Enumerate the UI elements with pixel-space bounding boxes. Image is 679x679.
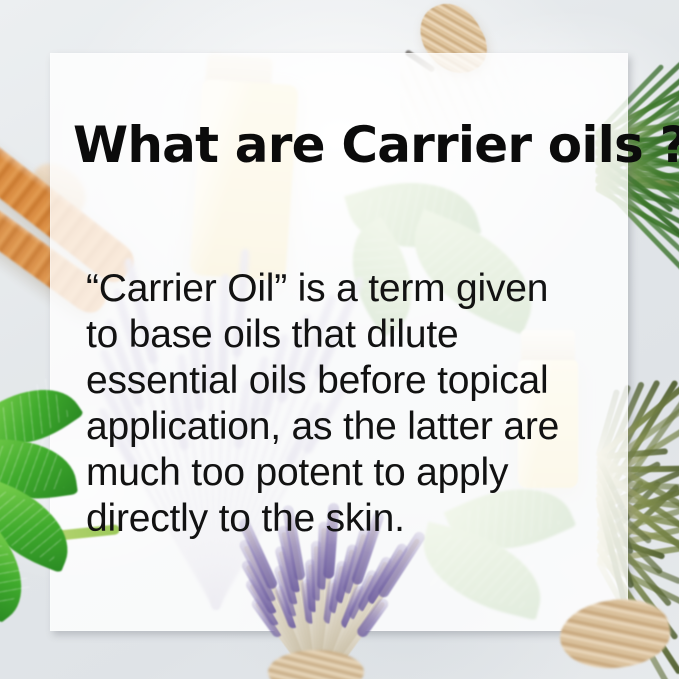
body-line: to base oils that dilute bbox=[86, 312, 606, 358]
body-line: directly to the skin. bbox=[86, 496, 606, 542]
body-line: “Carrier Oil” is a term given bbox=[86, 266, 606, 312]
body-line: application, as the latter are bbox=[86, 404, 606, 450]
body-line: essential oils before topical bbox=[86, 358, 606, 404]
body-line: much too potent to apply bbox=[86, 450, 606, 496]
informational-graphic: What are Carrier oils ? “Carrier Oil” is… bbox=[0, 0, 679, 679]
page-title: What are Carrier oils ? bbox=[73, 118, 679, 173]
body-paragraph: “Carrier Oil” is a term givento base oil… bbox=[86, 266, 606, 542]
